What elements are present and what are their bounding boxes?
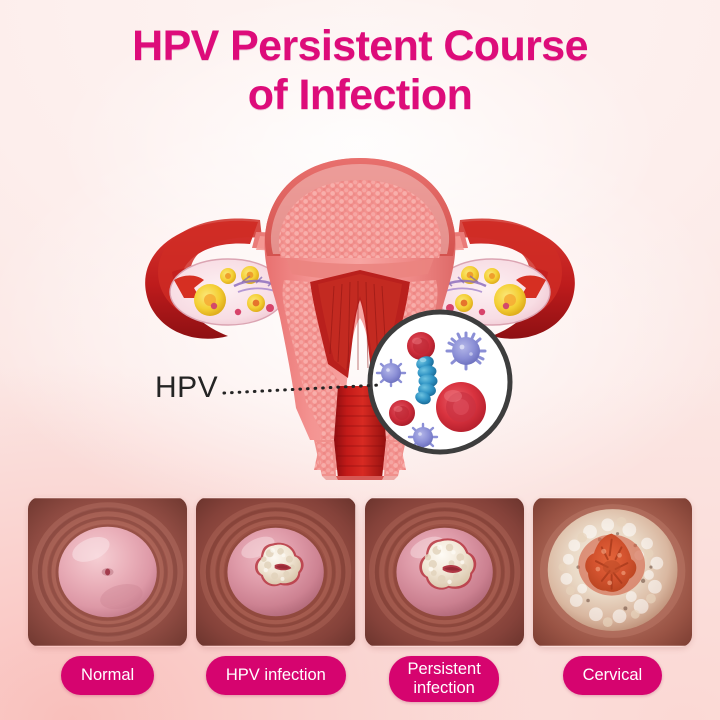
badge-cell-persistent-infection: Persistent infection xyxy=(365,656,524,698)
infographic-root: HPV Persistent Course of Infection xyxy=(0,0,720,720)
cervix-stage-panels xyxy=(28,497,692,647)
title-line-1: HPV Persistent Course xyxy=(0,22,720,71)
page-title: HPV Persistent Course of Infection xyxy=(0,22,720,120)
hpv-magnifier-circle xyxy=(365,306,515,458)
cervix-panel-persistent-infection[interactable] xyxy=(365,497,524,647)
badge-persistent-infection[interactable]: Persistent infection xyxy=(389,656,498,702)
badge-cell-hpv-infection: HPV infection xyxy=(196,656,355,698)
uterus-diagram xyxy=(110,140,610,480)
hpv-callout-label: HPV xyxy=(155,371,218,405)
badge-cervical[interactable]: Cervical xyxy=(563,656,663,695)
cervix-panel-hpv-infection[interactable] xyxy=(196,497,355,647)
badge-cell-normal: Normal xyxy=(28,656,187,698)
callout-leader-line xyxy=(222,381,382,405)
cervix-panel-normal[interactable] xyxy=(28,497,187,647)
badge-cell-cervical: Cervical xyxy=(533,656,692,698)
badge-normal[interactable]: Normal xyxy=(61,656,154,695)
cervix-panel-cervical[interactable] xyxy=(533,497,692,647)
title-line-2: of Infection xyxy=(0,71,720,120)
stage-label-badges: Normal HPV infection Persistent infectio… xyxy=(28,656,692,698)
badge-hpv-infection[interactable]: HPV infection xyxy=(206,656,346,695)
